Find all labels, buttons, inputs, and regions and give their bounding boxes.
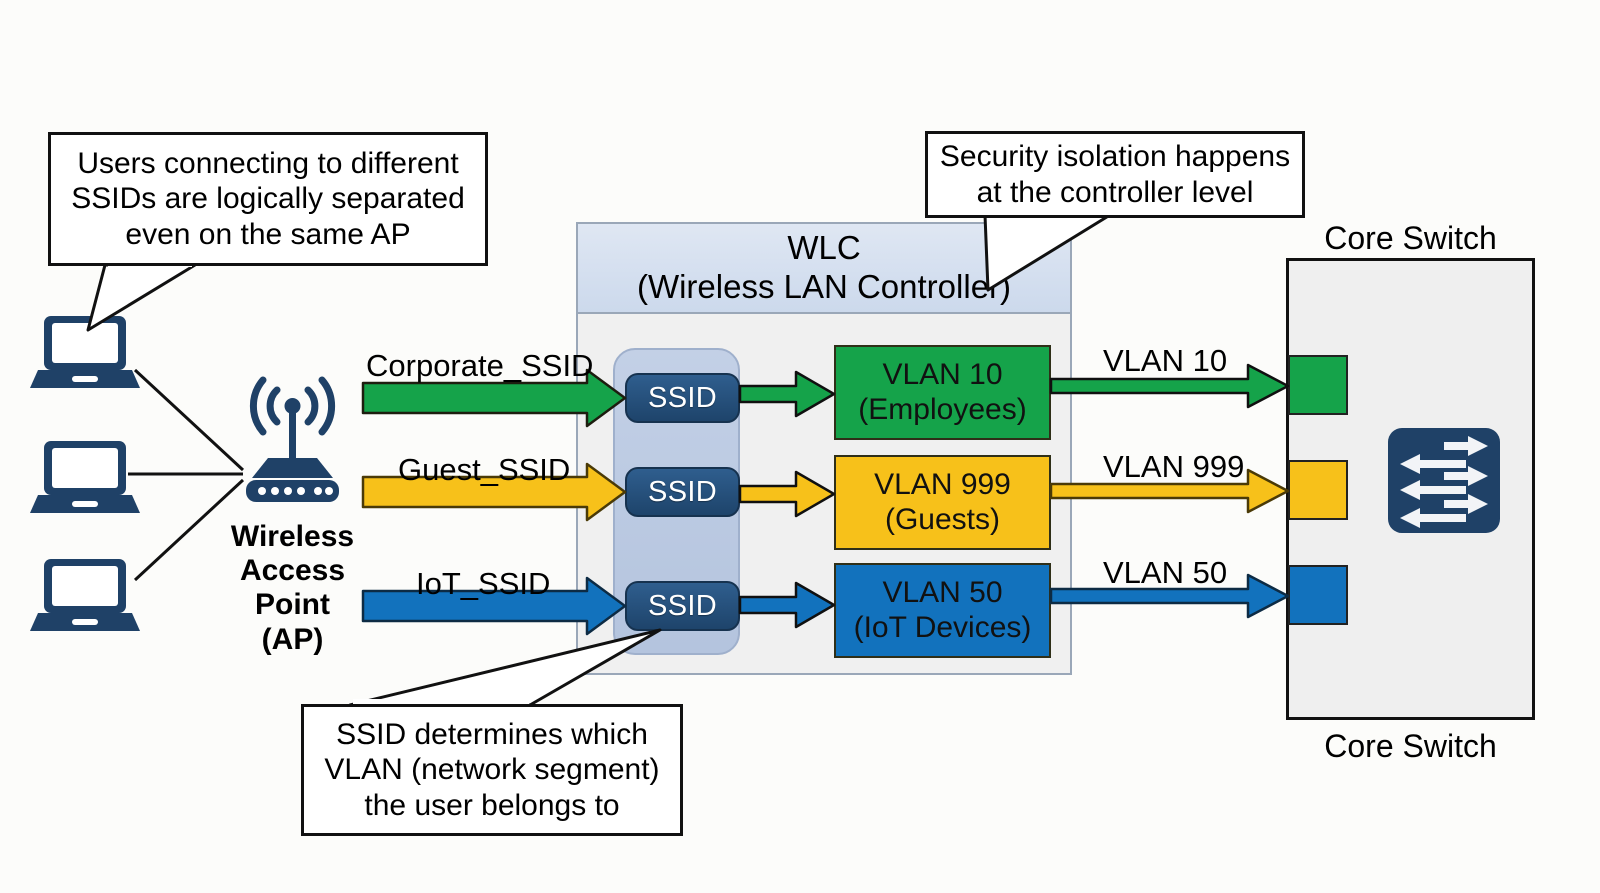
wlc-title-line-2: (Wireless LAN Controller) (637, 268, 1011, 307)
ssid-box-iot[interactable]: SSID (625, 581, 740, 631)
network-switch-icon (1388, 428, 1500, 533)
access-point-label: Wireless Access Point (AP) (215, 520, 370, 657)
ssid-box-label: SSID (648, 590, 717, 623)
vlan-box-999[interactable]: VLAN 999 (Guests) (834, 455, 1051, 550)
uplink-label-vlan-50: VLAN 50 (1103, 555, 1227, 591)
link-laptop1-ap (135, 370, 243, 470)
ssid-box-label: SSID (648, 382, 717, 415)
callout-users-separated: Users connecting to different SSIDs are … (48, 132, 488, 266)
ssid-box-label: SSID (648, 476, 717, 509)
wlc-header: WLC (Wireless LAN Controller) (576, 222, 1072, 314)
uplink-label-vlan-999: VLAN 999 (1103, 449, 1244, 485)
wireless-access-point-icon (230, 370, 355, 510)
vlan-box-line-1: VLAN 10 (882, 358, 1002, 392)
callout-ssid-determines-vlan: SSID determines which VLAN (network segm… (301, 704, 683, 836)
ssid-flow-label-iot: IoT_SSID (416, 566, 550, 602)
port-vlan-10 (1288, 355, 1348, 415)
core-switch-bottom-label: Core Switch (1286, 728, 1535, 765)
ssid-flow-label-guest: Guest_SSID (398, 452, 570, 488)
ssid-box-guest[interactable]: SSID (625, 467, 740, 517)
vlan-box-line-1: VLAN 50 (882, 576, 1002, 610)
laptop-icon-1 (30, 312, 140, 392)
laptop-icon-2 (30, 437, 140, 517)
port-vlan-50 (1288, 565, 1348, 625)
vlan-box-line-2: (Employees) (858, 393, 1026, 427)
ssid-box-corporate[interactable]: SSID (625, 373, 740, 423)
uplink-label-vlan-10: VLAN 10 (1103, 343, 1227, 379)
vlan-box-10[interactable]: VLAN 10 (Employees) (834, 345, 1051, 440)
core-switch-top-label: Core Switch (1286, 220, 1535, 257)
port-vlan-999 (1288, 460, 1348, 520)
ssid-flow-label-corporate: Corporate_SSID (366, 348, 593, 384)
vlan-box-line-2: (IoT Devices) (854, 611, 1032, 645)
wlc-title-line-1: WLC (787, 229, 860, 268)
vlan-box-50[interactable]: VLAN 50 (IoT Devices) (834, 563, 1051, 658)
vlan-box-line-2: (Guests) (885, 503, 1000, 537)
vlan-box-line-1: VLAN 999 (874, 468, 1011, 502)
laptop-icon-3 (30, 555, 140, 635)
callout-security-isolation: Security isolation happens at the contro… (925, 131, 1305, 218)
